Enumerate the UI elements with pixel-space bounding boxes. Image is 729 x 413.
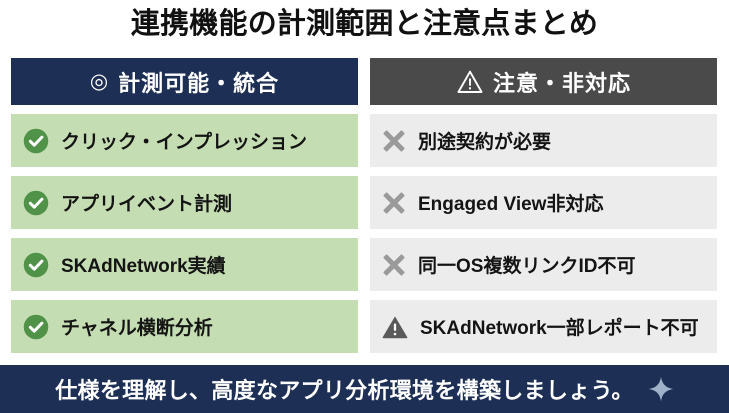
- page-title: 連携機能の計測範囲と注意点まとめ: [0, 4, 729, 44]
- list-item: SKAdNetwork一部レポート不可: [370, 300, 717, 353]
- double-circle-icon: ◎: [90, 71, 109, 92]
- footer-banner: 仕様を理解し、高度なアプリ分析環境を構築しましょう。: [0, 365, 729, 413]
- list-item-label: 同一OS複数リンクID不可: [418, 251, 635, 278]
- check-circle-icon: [22, 313, 50, 341]
- list-item-label: チャネル横断分析: [61, 313, 213, 340]
- warning-triangle-icon: [381, 313, 409, 341]
- column-header-supported: ◎ 計測可能・統合: [11, 58, 358, 105]
- list-item-label: クリック・インプレッション: [61, 127, 307, 154]
- check-circle-icon: [22, 251, 50, 279]
- comparison-columns: ◎ 計測可能・統合 クリック・インプレッション アプリイベント計測 SKAdNe…: [11, 58, 718, 353]
- list-item: アプリイベント計測: [11, 176, 358, 229]
- check-circle-icon: [22, 189, 50, 217]
- column-header-label: 計測可能・統合: [118, 66, 279, 98]
- warning-triangle-icon: [456, 68, 484, 96]
- sparkle-icon: [648, 376, 674, 402]
- column-header-caution: 注意・非対応: [370, 58, 717, 105]
- list-item: 同一OS複数リンクID不可: [370, 238, 717, 291]
- cross-icon: [381, 252, 407, 278]
- check-circle-icon: [22, 127, 50, 155]
- list-item: チャネル横断分析: [11, 300, 358, 353]
- list-item: クリック・インプレッション: [11, 114, 358, 167]
- column-header-label: 注意・非対応: [493, 66, 631, 98]
- list-item: SKAdNetwork実績: [11, 238, 358, 291]
- list-item-label: SKAdNetwork一部レポート不可: [420, 313, 699, 340]
- column-supported: ◎ 計測可能・統合 クリック・インプレッション アプリイベント計測 SKAdNe…: [11, 58, 358, 353]
- list-item: 別途契約が必要: [370, 114, 717, 167]
- cross-icon: [381, 128, 407, 154]
- column-caution: 注意・非対応 別途契約が必要 Engaged View非対応 同一OS複数リンク…: [370, 58, 717, 353]
- list-item-label: Engaged View非対応: [418, 189, 603, 216]
- footer-text: 仕様を理解し、高度なアプリ分析環境を構築しましょう。: [55, 373, 633, 405]
- list-item-label: SKAdNetwork実績: [61, 251, 226, 278]
- list-item: Engaged View非対応: [370, 176, 717, 229]
- cross-icon: [381, 190, 407, 216]
- list-item-label: アプリイベント計測: [61, 189, 232, 216]
- list-item-label: 別途契約が必要: [418, 127, 551, 154]
